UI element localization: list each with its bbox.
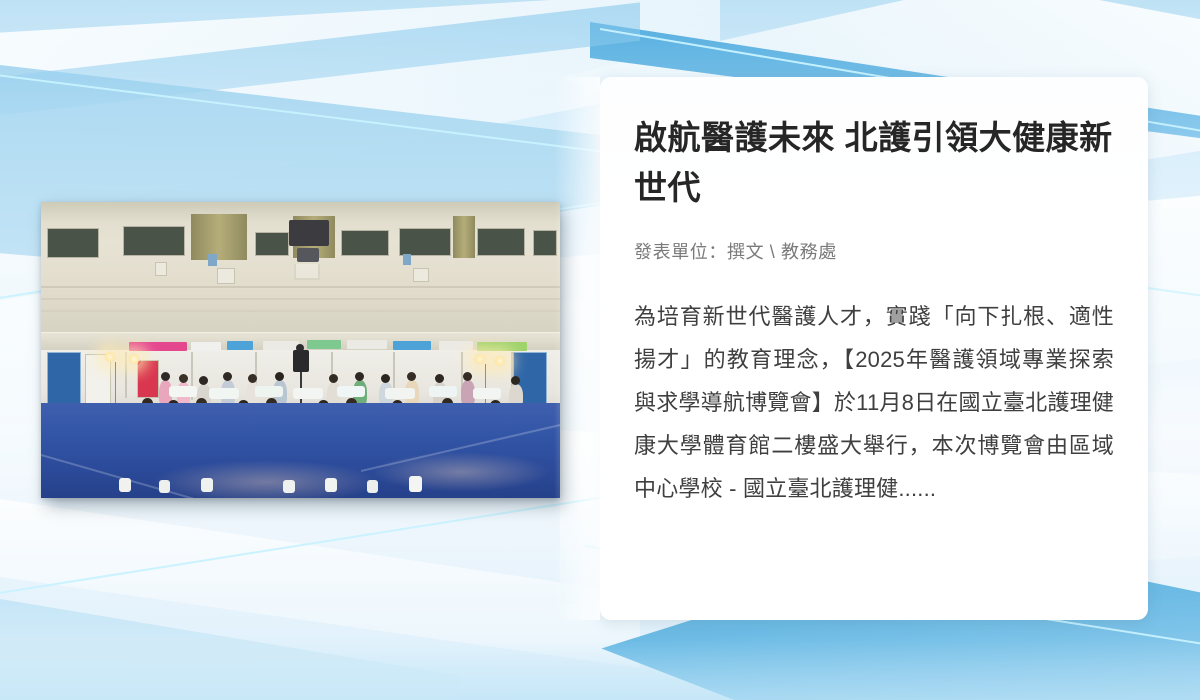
photo-window-vent — [533, 230, 557, 256]
photo-tote-bag — [201, 478, 213, 492]
photo-curtain — [191, 214, 247, 260]
photo-scoreboard — [289, 220, 329, 246]
photo-floor-reflection — [371, 452, 551, 492]
photo-tote-bag — [409, 476, 422, 492]
photo-scene-gymnasium — [41, 202, 560, 498]
photo-person-head — [435, 374, 444, 383]
photo-booth-banner — [393, 341, 431, 350]
photo-studio-light — [493, 354, 507, 368]
article-excerpt: 為培育新世代醫護人才，實踐「向下扎根、適性揚才」的教育理念，【2025年醫護領域… — [634, 296, 1114, 510]
background-bottom-edge-gradient — [0, 640, 1200, 700]
photo-wall-sign — [403, 254, 411, 265]
photo-person-head — [248, 374, 257, 383]
photo-poster-board — [47, 352, 81, 410]
photo-booth-banner — [477, 342, 527, 351]
photo-placard — [385, 388, 415, 399]
photo-person-head — [223, 372, 232, 381]
article-title: 啟航醫護未來 北護引領大健康新世代 — [634, 113, 1114, 213]
article-byline: 發表單位：撰文 \ 教務處 — [634, 238, 1114, 264]
photo-wall-rail — [41, 310, 560, 312]
background-facet-bottom-left-blue — [0, 575, 460, 700]
photo-placard — [293, 388, 323, 399]
photo-window-vent — [255, 232, 289, 256]
photo-placard — [473, 388, 501, 399]
photo-tote-bag — [325, 478, 337, 492]
photo-poster-board — [137, 360, 159, 398]
article-card[interactable]: 啟航醫護未來 北護引領大健康新世代 發表單位：撰文 \ 教務處 為培育新世代醫護… — [600, 77, 1148, 620]
photo-booth-banner — [263, 341, 299, 350]
photo-booth-banner — [227, 341, 253, 350]
photo-camera-operator-head — [296, 344, 304, 352]
photo-person-head — [179, 374, 188, 383]
background-facet-bottom-left-pale — [0, 470, 640, 700]
photo-person-head — [329, 374, 338, 383]
background-highlight-line — [0, 72, 635, 157]
photo-placard — [255, 386, 283, 397]
background-facet-top-chevron-left — [0, 0, 640, 120]
photo-placard — [429, 386, 457, 397]
photo-basketball-hoop — [294, 264, 320, 280]
photo-booth-banner — [129, 342, 187, 351]
photo-booth-banner — [439, 341, 473, 350]
photo-tote-bag — [367, 480, 378, 493]
photo-window-vent — [399, 228, 451, 256]
photo-booth-banner — [307, 340, 341, 349]
photo-wall-panel — [413, 268, 429, 282]
photo-person-head — [463, 372, 472, 381]
photo-wall-panel — [155, 262, 167, 276]
photo-person-head — [511, 376, 520, 385]
photo-person-head — [355, 372, 364, 381]
photo-window-vent — [123, 226, 185, 256]
photo-tote-bag — [159, 480, 170, 493]
photo-window-vent — [47, 228, 99, 258]
photo-studio-light — [127, 352, 141, 366]
photo-booth-banner — [191, 342, 221, 351]
photo-placard — [337, 386, 365, 397]
photo-placard — [209, 388, 239, 399]
photo-tote-bag — [283, 480, 295, 493]
article-photo[interactable] — [41, 202, 560, 498]
photo-curtain — [453, 216, 475, 258]
photo-placard — [169, 386, 197, 397]
photo-wall-sign — [208, 254, 217, 266]
photo-person-head — [275, 372, 284, 381]
photo-person-head — [161, 372, 170, 381]
photo-window-vent — [341, 230, 389, 256]
photo-floor-reflection — [151, 460, 381, 498]
photo-wall-panel — [217, 268, 235, 284]
photo-tote-bag — [119, 478, 131, 492]
photo-window-vent — [477, 228, 525, 256]
photo-wall-rail — [41, 286, 560, 288]
photo-camera-operator — [293, 350, 309, 372]
background-highlight-line — [0, 492, 632, 597]
photo-person-head — [381, 374, 390, 383]
page-background: 啟航醫護未來 北護引領大健康新世代 發表單位：撰文 \ 教務處 為培育新世代醫護… — [0, 0, 1200, 700]
photo-person-head — [407, 372, 416, 381]
photo-person-head — [199, 376, 208, 385]
photo-booth-banner — [347, 340, 387, 349]
photo-wall-rail — [41, 298, 560, 300]
photo-scoreboard-lower — [297, 248, 319, 262]
